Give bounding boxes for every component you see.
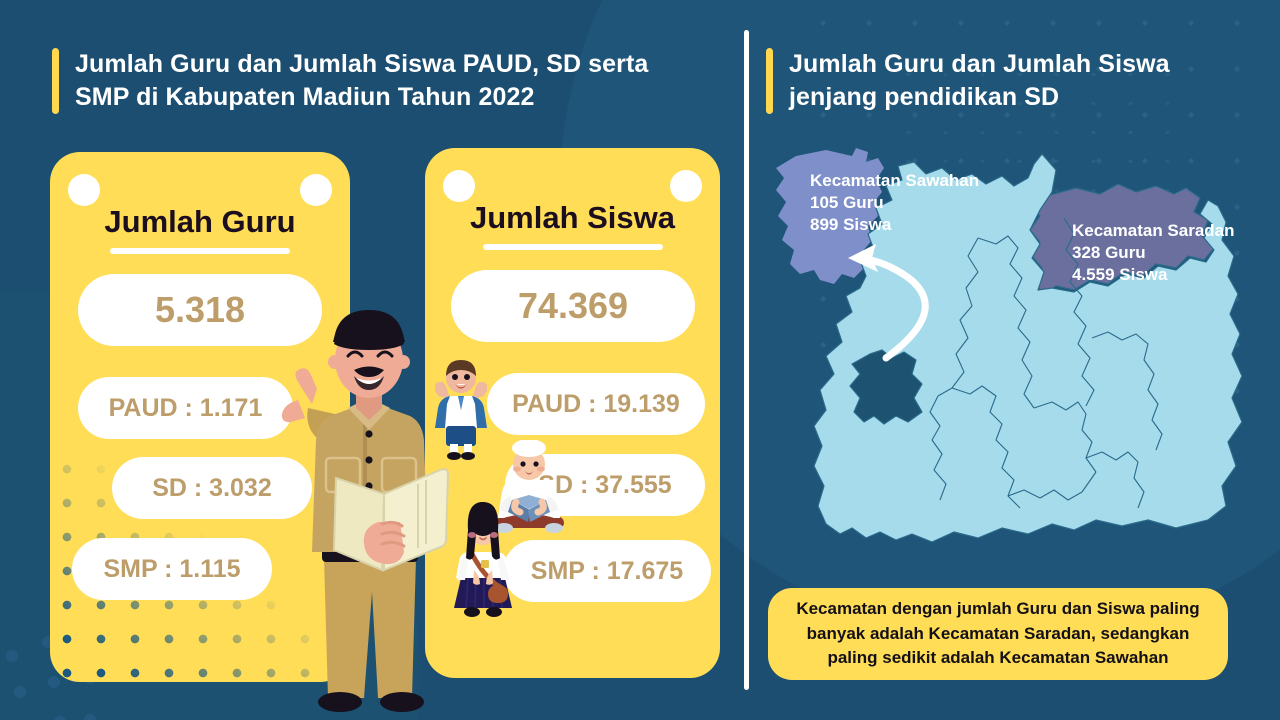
card-hole-left-icon: [443, 170, 475, 202]
infographic-canvas: Jumlah Guru dan Jumlah Siswa PAUD, SD se…: [0, 0, 1280, 720]
map-label-students: 899 Siswa: [810, 214, 979, 236]
title-accent-bar: [766, 48, 773, 114]
card-heading-underline: [483, 244, 663, 250]
right-panel-title: Jumlah Guru dan Jumlah Siswa jenjang pen…: [766, 48, 1226, 114]
card-hole-left-icon: [68, 174, 100, 206]
map-label-sawahan: Kecamatan Sawahan 105 Guru 899 Siswa: [810, 170, 979, 236]
map-label-students: 4.559 Siswa: [1072, 264, 1235, 286]
right-title-text: Jumlah Guru dan Jumlah Siswa jenjang pen…: [789, 48, 1170, 114]
guru-row-smp: SMP : 1.115: [72, 538, 272, 600]
panel-divider: [744, 30, 749, 690]
map-label-district: Kecamatan Sawahan: [810, 170, 979, 192]
guru-row-paud: PAUD : 1.171: [78, 377, 293, 439]
map-label-teachers: 105 Guru: [810, 192, 979, 214]
card-heading: Jumlah Guru: [50, 204, 350, 240]
map-caption: Kecamatan dengan jumlah Guru dan Siswa p…: [768, 588, 1228, 680]
card-hole-right-icon: [670, 170, 702, 202]
left-panel-title: Jumlah Guru dan Jumlah Siswa PAUD, SD se…: [52, 48, 712, 114]
left-title-text: Jumlah Guru dan Jumlah Siswa PAUD, SD se…: [75, 48, 648, 114]
student-smp-illustration: [448, 500, 518, 622]
siswa-row-paud: PAUD : 19.139: [487, 373, 705, 435]
title-accent-bar: [52, 48, 59, 114]
card-heading: Jumlah Siswa: [425, 200, 720, 236]
card-hole-right-icon: [300, 174, 332, 206]
map-label-saradan: Kecamatan Saradan 328 Guru 4.559 Siswa: [1072, 220, 1235, 286]
student-paud-illustration: [430, 360, 492, 460]
siswa-row-smp: SMP : 17.675: [503, 540, 711, 602]
siswa-total-value: 74.369: [451, 270, 695, 342]
card-heading-underline: [110, 248, 290, 254]
map-label-district: Kecamatan Saradan: [1072, 220, 1235, 242]
map-label-teachers: 328 Guru: [1072, 242, 1235, 264]
